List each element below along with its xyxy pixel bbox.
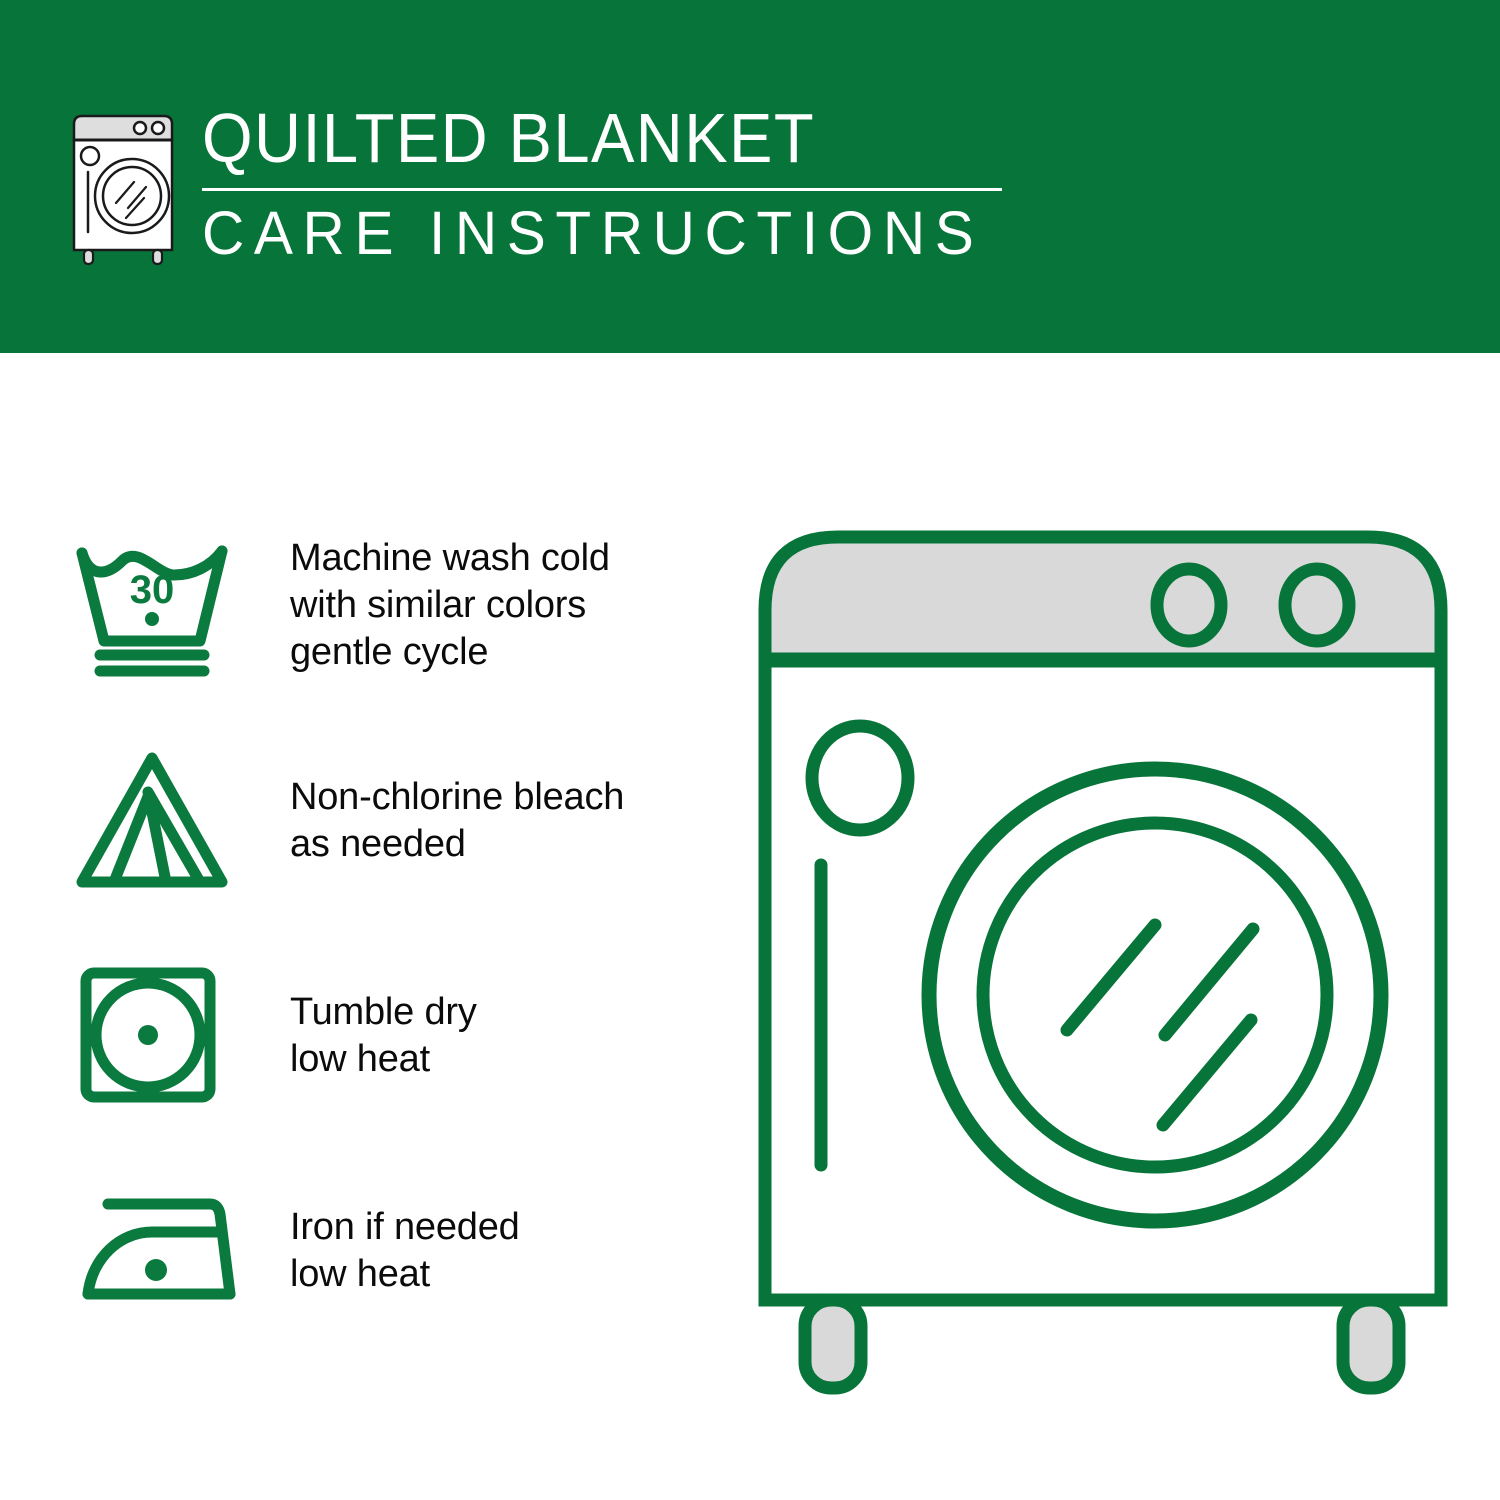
care-instruction-list: 30 Machine wash cold with similar colors… [70,498,710,1358]
header-content: QUILTED BLANKET CARE INSTRUCTIONS [62,100,1022,275]
care-row-machine-wash: 30 Machine wash cold with similar colors… [70,498,710,713]
non-chlorine-bleach-triangle-icon [70,746,260,896]
front-load-washing-machine-illustration [745,505,1465,1405]
wash-tub-30-icon: 30 [70,531,260,681]
tumble-dry-low-icon [70,961,260,1111]
header-text-block: QUILTED BLANKET CARE INSTRUCTIONS [202,100,1022,267]
washing-machine-icon [62,108,184,268]
page-subtitle: CARE INSTRUCTIONS [202,199,989,267]
care-text-iron: Iron if needed low heat [260,1204,710,1298]
title-divider [202,188,1002,191]
care-text-machine-wash: Machine wash cold with similar colors ge… [260,535,710,676]
care-row-iron: Iron if needed low heat [70,1143,710,1358]
wash-temperature-label: 30 [130,568,175,612]
header-band: QUILTED BLANKET CARE INSTRUCTIONS [0,0,1500,353]
care-row-bleach: Non-chlorine bleach as needed [70,713,710,928]
care-text-tumble-dry: Tumble dry low heat [260,989,710,1083]
iron-low-heat-icon [70,1176,260,1326]
care-row-tumble-dry: Tumble dry low heat [70,928,710,1143]
care-text-bleach: Non-chlorine bleach as needed [260,774,710,868]
page-title: QUILTED BLANKET [202,100,965,176]
